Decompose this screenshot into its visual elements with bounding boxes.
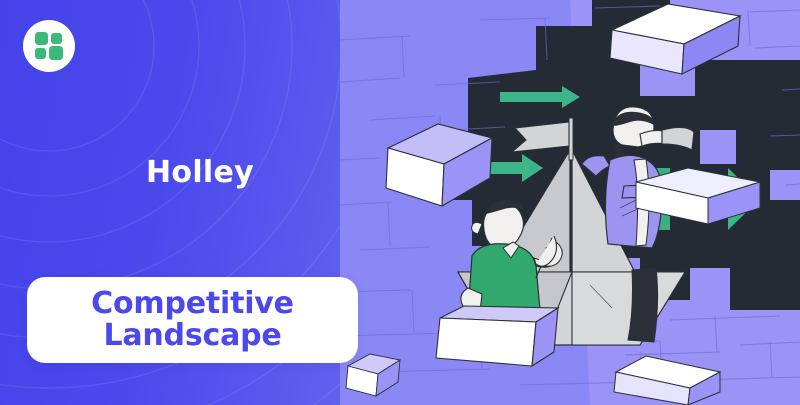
broken-wall-illustration — [340, 0, 800, 405]
four-square-grid-icon — [35, 32, 63, 60]
title-card: Competitive Landscape — [27, 277, 358, 363]
brand-logo[interactable] — [23, 20, 75, 72]
flying-brick — [436, 306, 558, 366]
brand-name: Holley — [0, 155, 400, 190]
page-title: Competitive Landscape — [91, 288, 294, 353]
competitive-landscape-banner: Holley Competitive Landscape — [0, 0, 800, 405]
grid-square-bottom-left — [35, 48, 46, 59]
grid-square-top-right — [51, 33, 62, 44]
grid-square-bottom-right — [49, 46, 63, 60]
grid-square-top-left — [35, 32, 48, 45]
